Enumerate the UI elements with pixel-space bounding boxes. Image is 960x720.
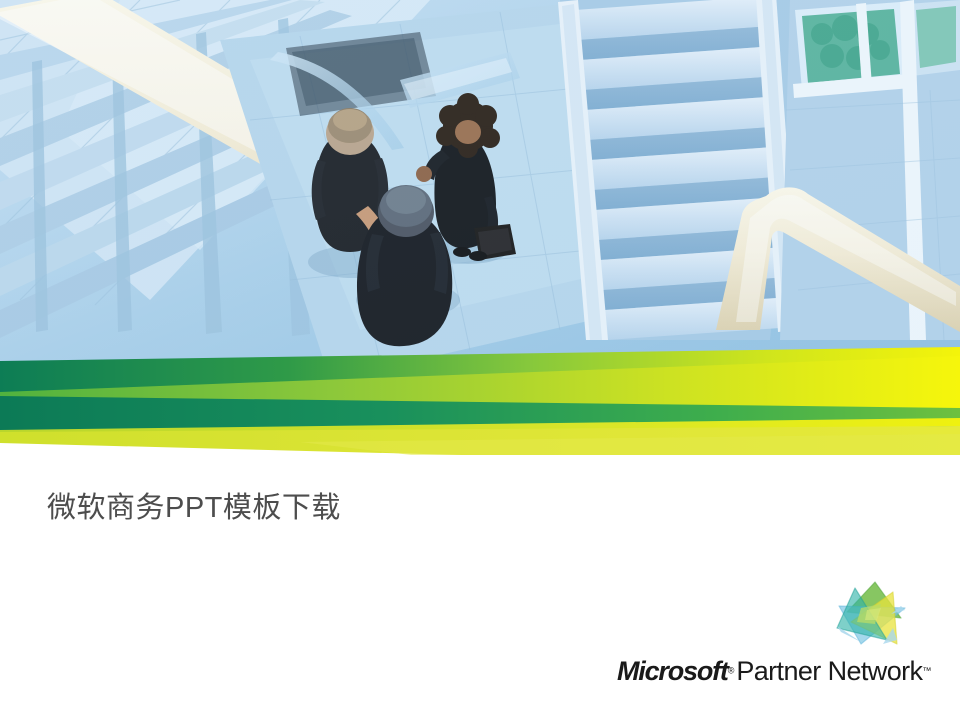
- partner-network-wordmark: Partner Network: [736, 656, 922, 686]
- microsoft-wordmark: Microsoft: [617, 656, 728, 686]
- page-title: 微软商务PPT模板下载: [47, 488, 341, 528]
- trademark-mark: ™: [922, 666, 931, 676]
- office-atrium-photo: [0, 0, 960, 380]
- mpn-wordmark: Microsoft®Partner Network™: [617, 656, 917, 686]
- mpn-star-emblem-icon: [831, 578, 909, 652]
- microsoft-partner-network-logo: Microsoft®Partner Network™: [617, 578, 917, 688]
- registered-mark: ®: [728, 666, 735, 676]
- title-slide: 微软商务PPT模板下载: [0, 0, 960, 720]
